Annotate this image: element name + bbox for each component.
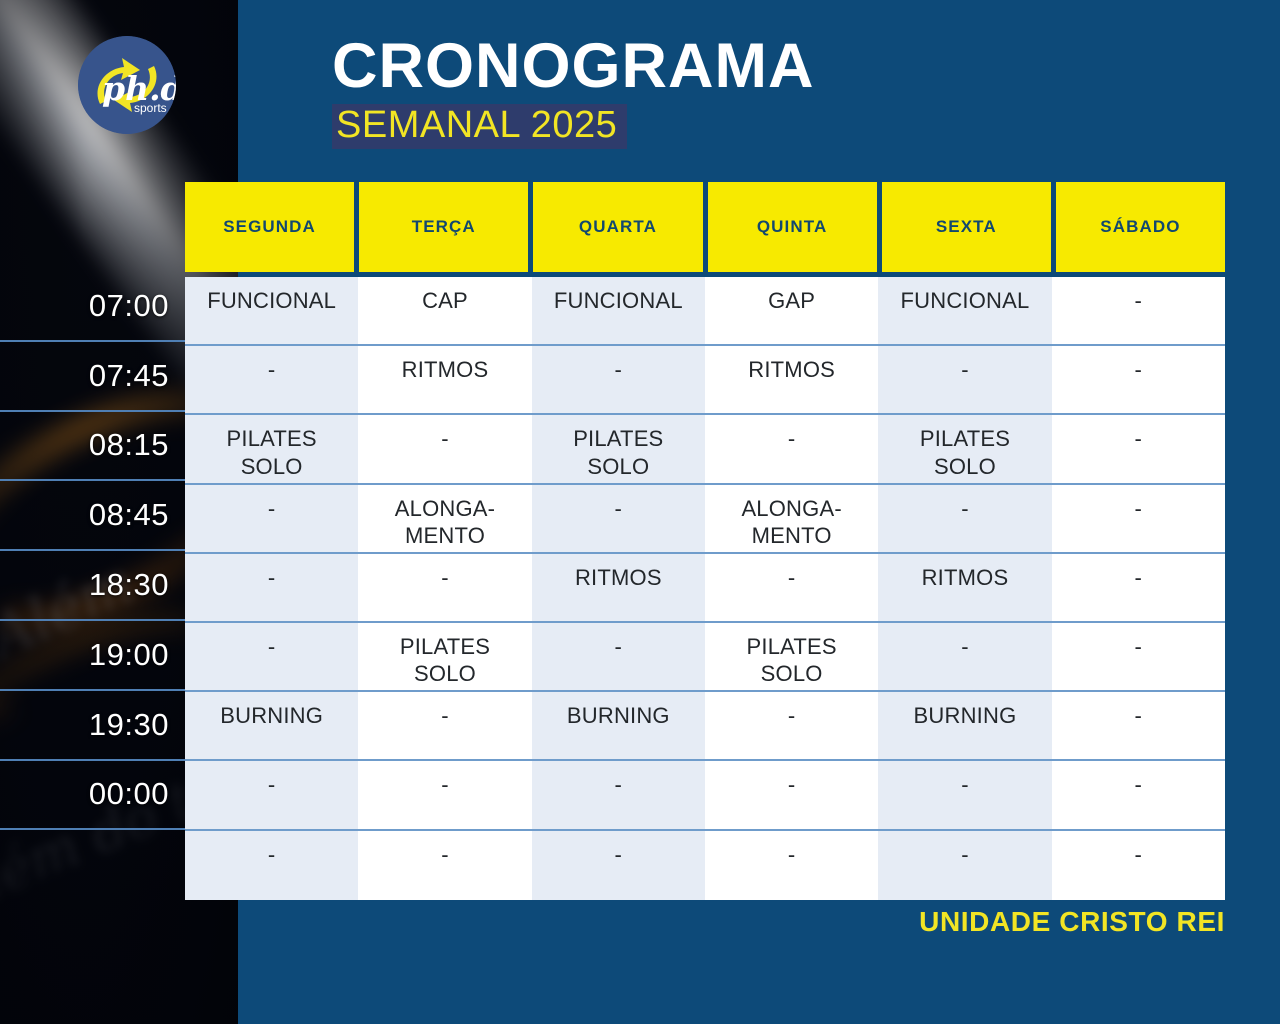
schedule-cell[interactable]: - (1052, 692, 1225, 761)
schedule-cell[interactable]: - (878, 623, 1051, 692)
schedule-cell[interactable]: GAP (705, 277, 878, 346)
schedule-cell-text: RITMOS (748, 356, 835, 384)
time-label: 07:45 (89, 358, 169, 394)
schedule-column-segunda: FUNCIONAL - PILATES SOLO - - - BURNING -… (185, 277, 358, 900)
schedule-cell-text: PILATES SOLO (400, 633, 490, 688)
schedule-cell[interactable]: BURNING (878, 692, 1051, 761)
page-title-block: CRONOGRAMA SEMANAL 2025 (332, 34, 814, 149)
schedule-cell[interactable]: - (358, 692, 531, 761)
schedule-cell-text: - (788, 425, 796, 453)
schedule-cell-text: PILATES SOLO (747, 633, 837, 688)
schedule-cell[interactable]: RITMOS (705, 346, 878, 415)
schedule-cell[interactable]: - (185, 554, 358, 623)
schedule-cell[interactable]: BURNING (532, 692, 705, 761)
page-subtitle: SEMANAL 2025 (336, 106, 617, 144)
time-label: 07:00 (89, 288, 169, 324)
schedule-column-quarta: FUNCIONAL - PILATES SOLO - RITMOS - BURN… (532, 277, 705, 900)
schedule-cell-text: PILATES SOLO (573, 425, 663, 480)
schedule-cell-text: - (961, 633, 969, 661)
time-label: 00:00 (89, 776, 169, 812)
page-title: CRONOGRAMA (332, 34, 814, 98)
schedule-cell-text: CAP (422, 287, 468, 315)
schedule-cell[interactable]: - (878, 761, 1051, 830)
schedule-cell[interactable]: - (532, 485, 705, 554)
time-label: 08:15 (89, 427, 169, 463)
schedule-cell-text: RITMOS (575, 564, 662, 592)
schedule-column-quinta: GAP RITMOS - ALONGA- MENTO - PILATES SOL… (705, 277, 878, 900)
schedule-cell-text: - (268, 495, 276, 523)
schedule-cell-text: PILATES SOLO (227, 425, 317, 480)
schedule-cell[interactable]: PILATES SOLO (532, 415, 705, 484)
schedule-cell-text: - (441, 771, 449, 799)
schedule-cell-text: FUNCIONAL (554, 287, 683, 315)
schedule-column-terca: CAP RITMOS - ALONGA- MENTO - PILATES SOL… (358, 277, 531, 900)
day-header-sabado[interactable]: SÁBADO (1056, 182, 1225, 272)
schedule-cell[interactable]: RITMOS (878, 554, 1051, 623)
schedule-cell[interactable]: - (532, 346, 705, 415)
schedule-cell-text: - (615, 841, 623, 869)
schedule-cell[interactable]: - (1052, 761, 1225, 830)
schedule-cell[interactable]: - (532, 831, 705, 900)
schedule-cell-text: - (1135, 633, 1143, 661)
schedule-cell[interactable]: - (185, 623, 358, 692)
schedule-cell[interactable]: - (705, 761, 878, 830)
schedule-cell-text: - (1135, 702, 1143, 730)
schedule-cell-text: - (441, 841, 449, 869)
day-header-sexta[interactable]: SEXTA (882, 182, 1051, 272)
day-header-quarta[interactable]: QUARTA (533, 182, 702, 272)
schedule-cell[interactable]: BURNING (185, 692, 358, 761)
schedule-cell-text: ALONGA- MENTO (741, 495, 841, 550)
schedule-cell[interactable]: FUNCIONAL (878, 277, 1051, 346)
schedule-cell[interactable]: - (185, 346, 358, 415)
day-header-row: SEGUNDA TERÇA QUARTA QUINTA SEXTA SÁBADO (185, 182, 1225, 272)
time-slot (0, 830, 185, 900)
schedule-cell-text: - (1135, 425, 1143, 453)
schedule-cell-text: BURNING (220, 702, 323, 730)
schedule-cell[interactable]: - (705, 415, 878, 484)
schedule-cell[interactable]: FUNCIONAL (532, 277, 705, 346)
schedule-cell-text: BURNING (567, 702, 670, 730)
schedule-cell[interactable]: RITMOS (532, 554, 705, 623)
schedule-cell-text: - (1135, 564, 1143, 592)
schedule-cell-text: - (441, 564, 449, 592)
schedule-cell[interactable]: - (878, 346, 1051, 415)
time-slot: 18:30 (0, 551, 185, 621)
schedule-cell-text: - (441, 425, 449, 453)
schedule-cell-text: - (788, 564, 796, 592)
schedule-cell[interactable]: - (532, 761, 705, 830)
schedule-cell[interactable]: - (705, 554, 878, 623)
day-header-quinta[interactable]: QUINTA (708, 182, 877, 272)
day-header-segunda[interactable]: SEGUNDA (185, 182, 354, 272)
schedule-cell[interactable]: - (358, 415, 531, 484)
schedule-cell[interactable]: - (532, 623, 705, 692)
schedule-cell-text: - (788, 702, 796, 730)
schedule-cell-text: - (1135, 287, 1143, 315)
schedule-cell[interactable]: - (358, 554, 531, 623)
time-label: 19:30 (89, 707, 169, 743)
unit-label: UNIDADE CRISTO REI (919, 906, 1225, 938)
page-subtitle-band: SEMANAL 2025 (332, 104, 627, 149)
schedule-cell-text: - (441, 702, 449, 730)
schedule-cell-text: - (268, 633, 276, 661)
schedule-cell-text: - (1135, 495, 1143, 523)
schedule-cell-text: - (1135, 356, 1143, 384)
time-column: 07:00 07:45 08:15 08:45 18:30 19:00 19:3… (0, 272, 185, 900)
schedule-cell[interactable]: - (1052, 831, 1225, 900)
time-label: 19:00 (89, 637, 169, 673)
schedule-cell-text: - (615, 771, 623, 799)
schedule-grid: FUNCIONAL - PILATES SOLO - - - BURNING -… (185, 277, 1225, 900)
schedule-cell-text: BURNING (914, 702, 1017, 730)
schedule-cell[interactable]: - (185, 485, 358, 554)
schedule-cell[interactable]: - (1052, 415, 1225, 484)
schedule-column-sabado: - - - - - - - - - (1052, 277, 1225, 900)
time-label: 08:45 (89, 497, 169, 533)
schedule-cell[interactable]: - (1052, 346, 1225, 415)
schedule-cell[interactable]: - (1052, 485, 1225, 554)
time-slot: 19:00 (0, 621, 185, 691)
schedule-cell[interactable]: ALONGA- MENTO (358, 485, 531, 554)
schedule-cell-text: - (1135, 841, 1143, 869)
schedule-cell-text: - (615, 633, 623, 661)
phd-sports-logo-icon: ph.d sports (78, 36, 176, 134)
schedule-cell[interactable]: - (705, 831, 878, 900)
schedule-cell[interactable]: - (878, 485, 1051, 554)
time-slot: 08:15 (0, 412, 185, 482)
schedule-cell-text: - (961, 771, 969, 799)
time-slot: 08:45 (0, 481, 185, 551)
time-slot: 07:45 (0, 342, 185, 412)
schedule-cell-text: FUNCIONAL (207, 287, 336, 315)
schedule-cell[interactable]: - (185, 831, 358, 900)
schedule-cell[interactable]: - (358, 761, 531, 830)
time-slot: 07:00 (0, 272, 185, 342)
schedule-cell-text: - (268, 356, 276, 384)
schedule-cell-text: FUNCIONAL (901, 287, 1030, 315)
schedule-cell-text: - (961, 495, 969, 523)
schedule-cell[interactable]: CAP (358, 277, 531, 346)
schedule-cell-text: RITMOS (922, 564, 1009, 592)
schedule-cell-text: - (788, 771, 796, 799)
time-slot: 00:00 (0, 761, 185, 831)
schedule-cell[interactable]: FUNCIONAL (185, 277, 358, 346)
schedule-cell[interactable]: - (185, 761, 358, 830)
schedule-cell[interactable]: - (1052, 623, 1225, 692)
schedule-cell-text: - (961, 356, 969, 384)
schedule-cell-text: - (1135, 771, 1143, 799)
schedule-cell[interactable]: - (878, 831, 1051, 900)
schedule-cell[interactable]: - (358, 831, 531, 900)
svg-text:sports: sports (134, 101, 167, 115)
schedule-cell-text: - (615, 495, 623, 523)
schedule-cell-text: - (788, 841, 796, 869)
schedule-cell[interactable]: PILATES SOLO (358, 623, 531, 692)
schedule-cell[interactable]: PILATES SOLO (878, 415, 1051, 484)
day-header-terca[interactable]: TERÇA (359, 182, 528, 272)
schedule-cell[interactable]: PILATES SOLO (185, 415, 358, 484)
schedule-cell[interactable]: PILATES SOLO (705, 623, 878, 692)
schedule-cell-text: - (268, 771, 276, 799)
schedule-cell[interactable]: - (705, 692, 878, 761)
schedule-cell[interactable]: RITMOS (358, 346, 531, 415)
schedule-cell-text: ALONGA- MENTO (395, 495, 495, 550)
schedule-cell[interactable]: - (1052, 554, 1225, 623)
schedule-cell-text: - (268, 841, 276, 869)
time-slot: 19:30 (0, 691, 185, 761)
schedule-cell-text: - (961, 841, 969, 869)
schedule-cell-text: - (615, 356, 623, 384)
schedule-cell-text: - (268, 564, 276, 592)
schedule-cell-text: GAP (768, 287, 815, 315)
schedule-cell[interactable]: ALONGA- MENTO (705, 485, 878, 554)
schedule-cell-text: RITMOS (402, 356, 489, 384)
schedule-cell[interactable]: - (1052, 277, 1225, 346)
time-label: 18:30 (89, 567, 169, 603)
schedule-cell-text: PILATES SOLO (920, 425, 1010, 480)
schedule-column-sexta: FUNCIONAL - PILATES SOLO - RITMOS - BURN… (878, 277, 1051, 900)
